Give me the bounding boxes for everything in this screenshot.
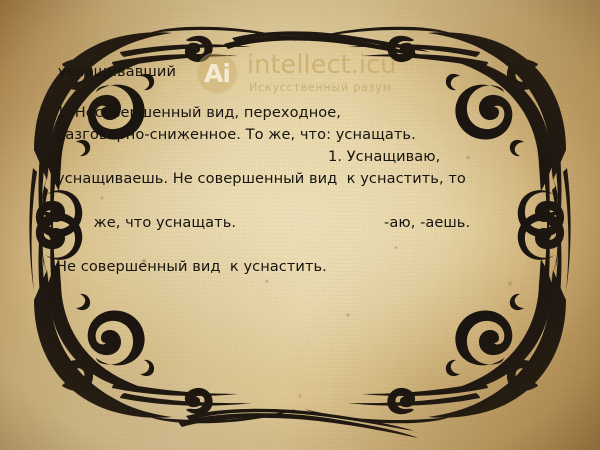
sense-line-1: 1. Несовершенный вид, переходное, xyxy=(56,102,544,124)
headword: уснащивавший xyxy=(58,62,544,82)
sense-line-5: же, что уснащать.-аю, -аешь. xyxy=(56,190,544,256)
dictionary-entry: уснащивавший 1. Несовершенный вид, перех… xyxy=(0,0,600,450)
sense-line-3: 1. Уснащиваю, xyxy=(56,146,544,168)
sense-line-4: уснащиваешь. Не совершенный вид к уснаст… xyxy=(56,168,544,190)
sense-line-2: разговорно-сниженное. То же, что: уснаща… xyxy=(56,124,544,146)
sense-line-5-right: -аю, -аешь. xyxy=(384,214,470,231)
sense-block: 1. Несовершенный вид, переходное, разгов… xyxy=(56,102,544,278)
parchment-card: Ai intellect.icu Искусственный разум усн… xyxy=(0,0,600,450)
sense-line-5-left: же, что уснащать. xyxy=(94,214,237,231)
sense-line-6: Не совершенный вид к уснастить. xyxy=(56,256,544,278)
